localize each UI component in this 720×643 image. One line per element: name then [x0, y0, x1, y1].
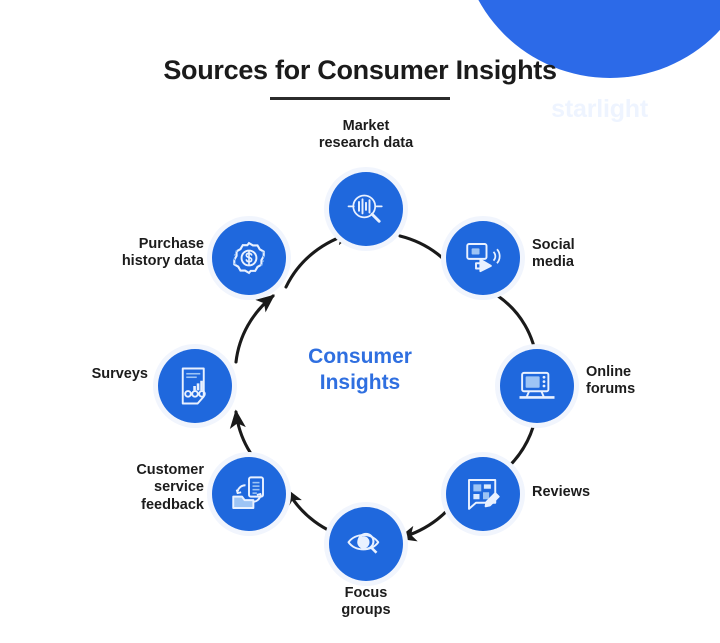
radial-cycle-diagram: Market research data Social media	[0, 0, 720, 643]
focus-groups-icon	[345, 523, 387, 565]
social-media-icon	[462, 237, 504, 279]
node-purchase-history-data[interactable]	[212, 221, 286, 295]
node-label-social-media: Social media	[532, 237, 575, 272]
center-label: Consumer Insights	[0, 344, 720, 395]
node-label-focus-groups: Focus groups	[276, 585, 456, 620]
node-label-reviews: Reviews	[532, 484, 590, 501]
node-label-purchase-history-data: Purchase history data	[74, 236, 204, 271]
node-reviews[interactable]	[446, 457, 520, 531]
node-market-research-data[interactable]	[329, 172, 403, 246]
purchase-history-icon	[228, 237, 270, 279]
node-label-customer-service-feedback: Customer service feedback	[84, 462, 204, 514]
node-label-market-research-data: Market research data	[276, 118, 456, 153]
node-social-media[interactable]	[446, 221, 520, 295]
node-focus-groups[interactable]	[329, 507, 403, 581]
node-customer-service-feedback[interactable]	[212, 457, 286, 531]
customer-service-icon	[228, 473, 270, 515]
infographic-canvas: starlight Sources for Consumer Insights	[0, 0, 720, 643]
market-research-icon	[345, 188, 387, 230]
reviews-icon	[462, 473, 504, 515]
